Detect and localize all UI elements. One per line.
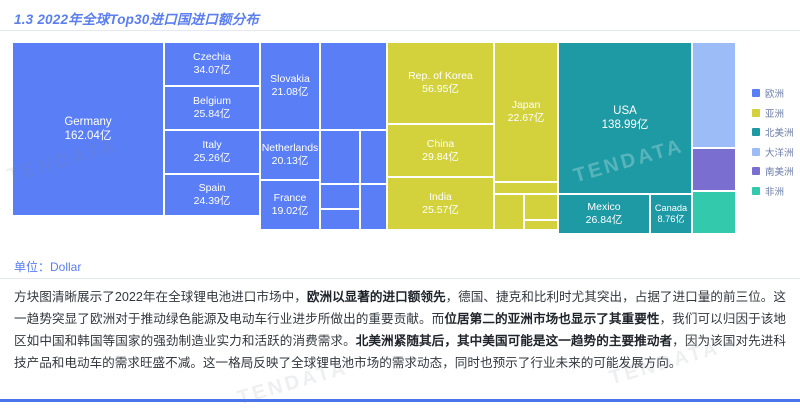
- legend-label: 亚洲: [765, 106, 784, 120]
- treemap-tile-france[interactable]: France19.02亿: [260, 180, 320, 230]
- tile-country-label: Italy: [202, 139, 221, 152]
- tile-value-label: 25.84亿: [194, 108, 231, 121]
- treemap-tile[interactable]: [320, 184, 360, 209]
- analysis-paragraph: 方块图清晰展示了2022年在全球锂电池进口市场中，欧洲以显著的进口额领先，德国、…: [14, 286, 786, 374]
- tile-value-label: 24.39亿: [194, 195, 231, 208]
- legend-item[interactable]: 大洋洲: [752, 145, 794, 159]
- tile-country-label: France: [274, 192, 307, 205]
- unit-label: 单位：Dollar: [14, 258, 81, 275]
- tile-value-label: 8.76亿: [657, 214, 684, 225]
- treemap-tile-slovakia[interactable]: Slovakia21.08亿: [260, 42, 320, 130]
- tile-value-label: 25.57亿: [422, 204, 459, 217]
- legend-swatch-icon: [752, 187, 760, 195]
- treemap-tiles-container: Germany162.04亿Czechia34.07亿Belgium25.84亿…: [12, 42, 736, 234]
- treemap-tile[interactable]: [494, 182, 558, 194]
- tile-country-label: Canada: [655, 203, 687, 214]
- analysis-emphasis: 北美洲紧随其后，其中美国可能是这一趋势的主要推动者: [356, 334, 672, 348]
- analysis-emphasis: 位居第二的亚洲市场也显示了其重要性: [444, 312, 659, 326]
- tile-country-label: USA: [613, 104, 637, 118]
- legend-label: 大洋洲: [765, 145, 794, 159]
- treemap-chart: Germany162.04亿Czechia34.07亿Belgium25.84亿…: [12, 42, 788, 234]
- analysis-text: 方块图清晰展示了2022年在全球锂电池进口市场中，: [14, 290, 307, 304]
- tile-value-label: 34.07亿: [194, 64, 231, 77]
- treemap-tile-usa[interactable]: USA138.99亿: [558, 42, 692, 194]
- treemap-tile[interactable]: [524, 194, 558, 220]
- tile-value-label: 56.95亿: [422, 83, 459, 96]
- tile-country-label: Mexico: [587, 201, 620, 214]
- tile-country-label: Netherlands: [262, 142, 319, 155]
- legend-item[interactable]: 北美洲: [752, 125, 794, 139]
- treemap-tile[interactable]: [320, 130, 360, 184]
- treemap-tile[interactable]: [320, 209, 360, 230]
- legend-item[interactable]: 亚洲: [752, 106, 794, 120]
- chart-legend: 欧洲亚洲北美洲大洋洲南美洲非洲: [752, 86, 794, 198]
- treemap-tile-china[interactable]: China29.84亿: [387, 124, 494, 177]
- tile-country-label: Japan: [512, 99, 541, 112]
- legend-label: 非洲: [765, 184, 784, 198]
- tile-value-label: 26.84亿: [586, 214, 623, 227]
- analysis-emphasis: 欧洲以显著的进口额领先: [307, 290, 446, 304]
- tile-value-label: 19.02亿: [272, 205, 309, 218]
- page-title: 1.3 2022年全球Top30进口国进口额分布: [14, 8, 259, 28]
- treemap-tile-spain[interactable]: Spain24.39亿: [164, 174, 260, 216]
- legend-item[interactable]: 非洲: [752, 184, 794, 198]
- legend-swatch-icon: [752, 148, 760, 156]
- legend-swatch-icon: [752, 167, 760, 175]
- treemap-tile[interactable]: [692, 148, 736, 191]
- treemap-tile-netherlands[interactable]: Netherlands20.13亿: [260, 130, 320, 180]
- treemap-tile-mexico[interactable]: Mexico26.84亿: [558, 194, 650, 234]
- tile-country-label: Slovakia: [270, 73, 310, 86]
- legend-swatch-icon: [752, 89, 760, 97]
- treemap-tile[interactable]: [320, 42, 387, 130]
- tile-value-label: 22.67亿: [508, 112, 545, 125]
- treemap-tile-india[interactable]: India25.57亿: [387, 177, 494, 230]
- tile-value-label: 29.84亿: [422, 151, 459, 164]
- title-divider: [0, 30, 800, 31]
- tile-country-label: Rep. of Korea: [408, 70, 473, 83]
- tile-country-label: China: [427, 138, 454, 151]
- legend-item[interactable]: 南美洲: [752, 164, 794, 178]
- treemap-tile[interactable]: [360, 184, 387, 230]
- tile-value-label: 162.04亿: [65, 129, 112, 143]
- treemap-tile-japan[interactable]: Japan22.67亿: [494, 42, 558, 182]
- treemap-tile-belgium[interactable]: Belgium25.84亿: [164, 86, 260, 130]
- treemap-tile-germany[interactable]: Germany162.04亿: [12, 42, 164, 216]
- tile-country-label: Belgium: [193, 95, 231, 108]
- treemap-tile-canada[interactable]: Canada8.76亿: [650, 194, 692, 234]
- treemap-tile[interactable]: [360, 130, 387, 184]
- unit-divider: [0, 278, 800, 279]
- treemap-tile-italy[interactable]: Italy25.26亿: [164, 130, 260, 174]
- treemap-tile-czechia[interactable]: Czechia34.07亿: [164, 42, 260, 86]
- treemap-tile[interactable]: [494, 194, 524, 230]
- tile-value-label: 20.13亿: [272, 155, 309, 168]
- treemap-tile[interactable]: [692, 42, 736, 148]
- legend-label: 南美洲: [765, 164, 794, 178]
- legend-swatch-icon: [752, 128, 760, 136]
- tile-country-label: Czechia: [193, 51, 231, 64]
- tile-country-label: Spain: [199, 182, 226, 195]
- treemap-tile-rep-of-korea[interactable]: Rep. of Korea56.95亿: [387, 42, 494, 124]
- tile-country-label: India: [429, 191, 452, 204]
- tile-value-label: 25.26亿: [194, 152, 231, 165]
- treemap-tile[interactable]: [692, 191, 736, 234]
- tile-country-label: Germany: [64, 115, 111, 129]
- tile-value-label: 21.08亿: [272, 86, 309, 99]
- legend-label: 北美洲: [765, 125, 794, 139]
- treemap-tile[interactable]: [524, 220, 558, 230]
- legend-swatch-icon: [752, 109, 760, 117]
- legend-item[interactable]: 欧洲: [752, 86, 794, 100]
- tile-value-label: 138.99亿: [602, 118, 649, 132]
- report-page: 1.3 2022年全球Top30进口国进口额分布 Germany162.04亿C…: [0, 0, 800, 402]
- legend-label: 欧洲: [765, 86, 784, 100]
